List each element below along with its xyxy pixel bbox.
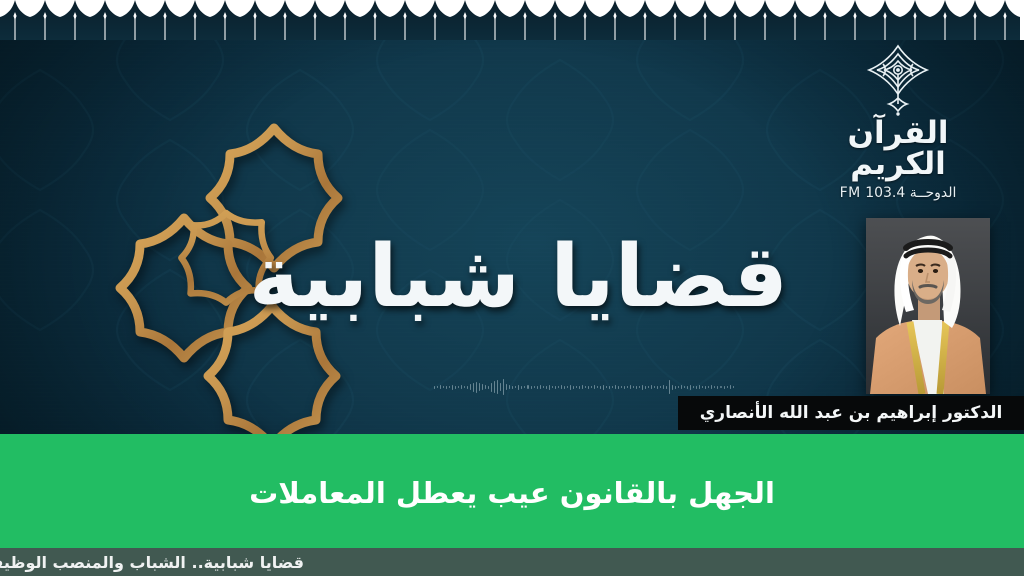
headline: الجهل بالقانون عيب يعطل المعاملات bbox=[0, 470, 1024, 516]
headline-text: الجهل بالقانون عيب يعطل المعاملات bbox=[249, 476, 775, 510]
broadcast-graphic: قضايا شبابية القرآن bbox=[0, 0, 1024, 576]
presenter-name-bar: الدكتور إبراهيم بن عبد الله الأنصاري bbox=[678, 396, 1024, 430]
audio-waveform-icon bbox=[434, 378, 734, 396]
channel-logo: القرآن الكريم الدوحــة 103.4 FM bbox=[808, 42, 988, 202]
news-ticker: قضايا شبابية.. الشباب والمنصب الوظيفي bbox=[0, 548, 1024, 576]
programme-title: قضايا شبابية bbox=[249, 232, 788, 322]
channel-logo-frequency: الدوحــة 103.4 FM bbox=[808, 185, 988, 201]
presenter-name-text: الدكتور إبراهيم بن عبد الله الأنصاري bbox=[700, 403, 1003, 423]
channel-logo-name: القرآن الكريم bbox=[808, 118, 988, 180]
presenter-portrait-icon bbox=[866, 218, 990, 394]
ticker-text: قضايا شبابية.. الشباب والمنصب الوظيفي bbox=[0, 553, 304, 572]
scalloped-arch-border-icon bbox=[0, 0, 1024, 40]
arabesque-ornament-icon bbox=[808, 42, 988, 120]
